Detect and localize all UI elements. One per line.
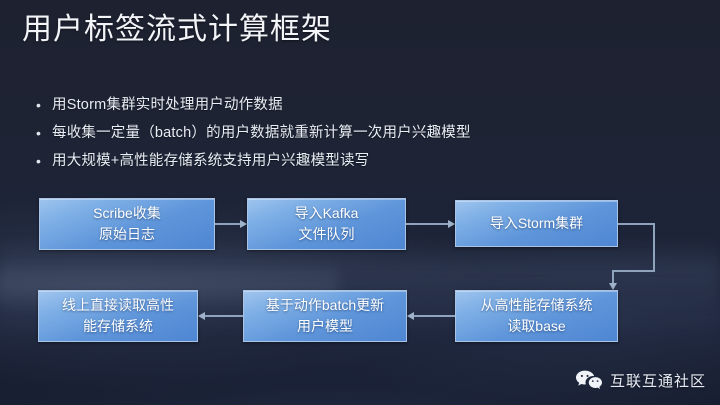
flow-node-line: 能存储系统 xyxy=(83,316,153,337)
edge-batch-to-online-arrowhead xyxy=(198,312,205,320)
edge-storm-to-readbase-segment-left xyxy=(612,270,655,272)
flow-node-line: 用户模型 xyxy=(297,316,353,337)
flow-node-line: 原始日志 xyxy=(99,224,155,245)
flow-node-line: 文件队列 xyxy=(299,224,355,245)
flow-node-line: Scribe收集 xyxy=(93,203,161,224)
list-item: • 每收集一定量（batch）的用户数据就重新计算一次用户兴趣模型 xyxy=(36,122,696,144)
edge-storm-to-readbase-segment-right xyxy=(618,223,654,225)
flow-node-line: 线上直接读取高性 xyxy=(62,295,174,316)
flow-node-storm[interactable]: 导入Storm集群 xyxy=(455,200,618,247)
bullet-marker: • xyxy=(36,122,52,144)
edge-batch-to-online-line xyxy=(205,315,243,317)
bullet-text: 每收集一定量（batch）的用户数据就重新计算一次用户兴趣模型 xyxy=(52,122,471,144)
edge-storm-to-readbase-arrowhead xyxy=(609,283,617,290)
bullet-text: 用Storm集群实时处理用户动作数据 xyxy=(52,94,283,116)
flow-node-line: 读取base xyxy=(507,316,565,337)
flow-node-line: 导入Storm集群 xyxy=(490,213,583,234)
edge-readbase-to-batch-arrowhead xyxy=(407,312,414,320)
list-item: • 用大规模+高性能存储系统支持用户兴趣模型读写 xyxy=(36,150,696,172)
flow-node-line: 从高性能存储系统 xyxy=(481,295,593,316)
watermark: 互联互通社区 xyxy=(575,369,706,391)
edge-storm-to-readbase-segment-down xyxy=(653,223,655,271)
edge-kafka-to-storm-arrowhead xyxy=(448,220,455,228)
flow-node-kafka[interactable]: 导入Kafka 文件队列 xyxy=(247,198,406,250)
edge-scribe-to-kafka-arrowhead xyxy=(240,220,247,228)
bullet-marker: • xyxy=(36,150,52,172)
wechat-icon xyxy=(575,369,603,391)
list-item: • 用Storm集群实时处理用户动作数据 xyxy=(36,94,696,116)
bullet-text: 用大规模+高性能存储系统支持用户兴趣模型读写 xyxy=(52,150,369,172)
edge-scribe-to-kafka-line xyxy=(215,223,240,225)
bullet-list: • 用Storm集群实时处理用户动作数据 • 每收集一定量（batch）的用户数… xyxy=(36,94,696,178)
watermark-label: 互联互通社区 xyxy=(610,370,706,391)
edge-kafka-to-storm-line xyxy=(406,223,448,225)
flow-node-batch-update[interactable]: 基于动作batch更新 用户模型 xyxy=(243,290,407,342)
flow-node-line: 基于动作batch更新 xyxy=(266,295,384,316)
flow-node-read-base[interactable]: 从高性能存储系统 读取base xyxy=(455,290,618,342)
edge-storm-to-readbase-segment-drop xyxy=(612,270,614,283)
flow-node-line: 导入Kafka xyxy=(295,203,359,224)
edge-readbase-to-batch-line xyxy=(414,315,455,317)
flow-node-scribe[interactable]: Scribe收集 原始日志 xyxy=(39,198,215,250)
slide-canvas: 用户标签流式计算框架 • 用Storm集群实时处理用户动作数据 • 每收集一定量… xyxy=(0,0,720,405)
bullet-marker: • xyxy=(36,94,52,116)
page-title: 用户标签流式计算框架 xyxy=(22,10,332,50)
flow-node-online-read[interactable]: 线上直接读取高性 能存储系统 xyxy=(38,290,198,342)
